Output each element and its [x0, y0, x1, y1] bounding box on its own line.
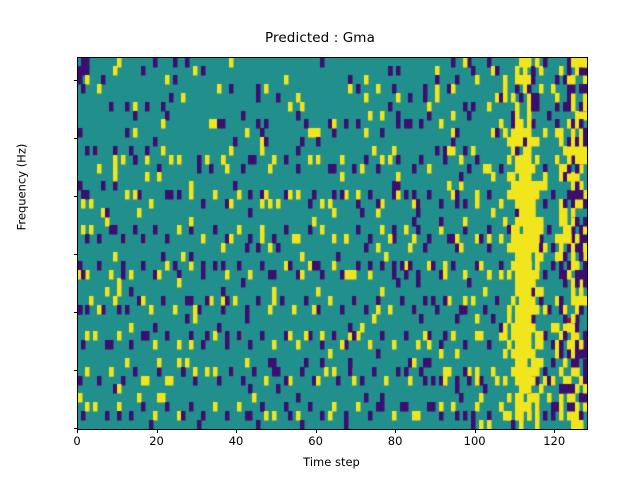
figure-canvas: Predicted : Gma Frequency (Hz) Time step… [0, 0, 640, 480]
y-tick-mark [74, 254, 78, 255]
x-axis-label: Time step [77, 455, 586, 469]
x-tick-label: 0 [37, 434, 117, 448]
x-tick-mark [554, 430, 555, 434]
y-tick-mark [74, 312, 78, 313]
x-tick-mark [157, 430, 158, 434]
y-tick-mark [74, 138, 78, 139]
x-tick-label: 20 [117, 434, 197, 448]
y-tick-mark [74, 196, 78, 197]
plot-title: Predicted : Gma [0, 30, 640, 46]
y-tick-mark [74, 370, 78, 371]
x-tick-label: 120 [514, 434, 594, 448]
heatmap-image [78, 58, 587, 429]
x-tick-label: 40 [196, 434, 276, 448]
x-tick-mark [395, 430, 396, 434]
x-tick-label: 80 [355, 434, 435, 448]
heatmap-axes [77, 57, 588, 430]
y-tick-mark [74, 80, 78, 81]
x-tick-label: 100 [435, 434, 515, 448]
y-axis-label: Frequency (Hz) [15, 2, 29, 373]
x-tick-mark [316, 430, 317, 434]
x-tick-label: 60 [276, 434, 356, 448]
x-tick-mark [77, 430, 78, 434]
x-tick-mark [475, 430, 476, 434]
x-tick-mark [236, 430, 237, 434]
